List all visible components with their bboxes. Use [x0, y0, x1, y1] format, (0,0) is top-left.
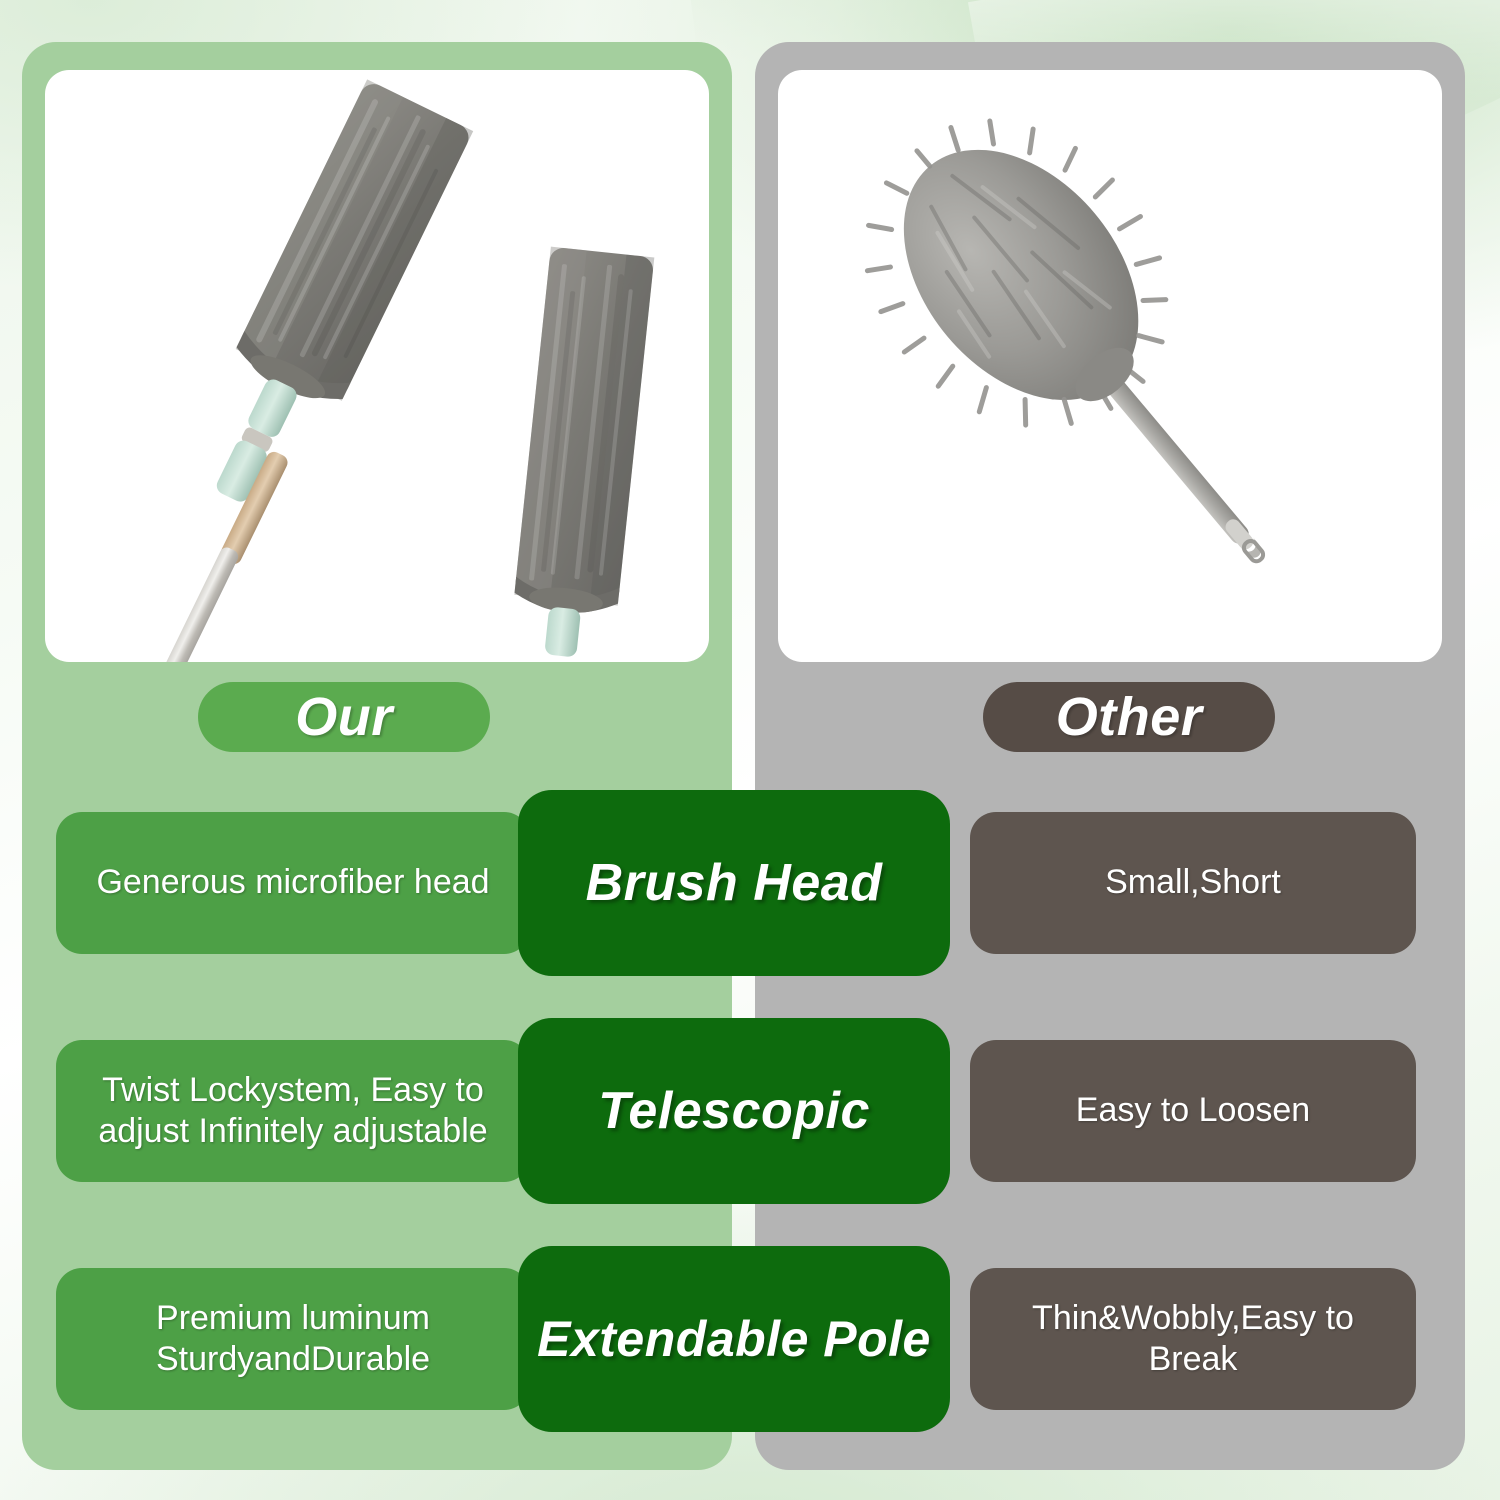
- other-feature-value: Thin&Wobbly,Easy to Break: [970, 1268, 1416, 1410]
- other-feature-value: Small,Short: [970, 812, 1416, 954]
- feature-label-badge: Brush Head: [518, 790, 950, 976]
- our-feature-value: Generous microfiber head: [56, 812, 530, 954]
- feather-duster-photo: [778, 70, 1442, 662]
- our-feature-value: Twist Lockystem, Easy to adjust Infinite…: [56, 1040, 530, 1182]
- column-header-other: Other: [983, 682, 1275, 752]
- product-photo-card-our: [45, 70, 709, 662]
- other-feature-value: Easy to Loosen: [970, 1040, 1416, 1182]
- feature-label-badge: Extendable Pole: [518, 1246, 950, 1432]
- column-header-our: Our: [198, 682, 490, 752]
- feature-label-badge: Telescopic: [518, 1018, 950, 1204]
- comparison-infographic: Our Other Generous microfiber head Brush…: [0, 0, 1500, 1500]
- product-photo-card-other: [778, 70, 1442, 662]
- our-feature-value: Premium luminum SturdyandDurable: [56, 1268, 530, 1410]
- microfiber-gap-duster-photo: [45, 70, 709, 662]
